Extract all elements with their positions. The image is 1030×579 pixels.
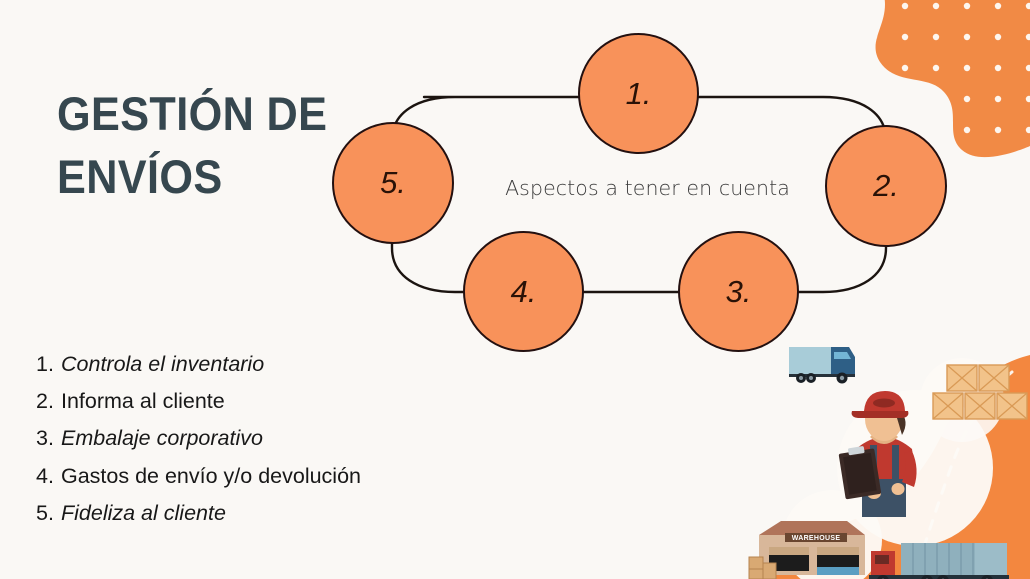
warehouse-building-icon: WAREHOUSE [749, 521, 865, 579]
slide-canvas: GESTIÓN DE ENVÍOS 1. 2. 3. 4. 5. Aspecto… [0, 0, 1030, 579]
diagram-node-1[interactable]: 1. [578, 33, 699, 154]
logistics-illustration: WAREHOUSE [745, 329, 1030, 579]
list-item-text: Controla el inventario [61, 352, 264, 377]
list-item: 1. Controla el inventario [36, 352, 466, 377]
list-item: 4. Gastos de envío y/o devolución [36, 464, 466, 489]
stacked-crates-icon [933, 365, 1027, 419]
list-item-text: Embalaje corporativo [61, 426, 263, 451]
diagram-node-3-label: 3. [726, 274, 752, 310]
list-item-index: 2. [36, 389, 61, 414]
list-item: 5. Fideliza al cliente [36, 501, 466, 526]
steps-list: 1. Controla el inventario 2. Informa al … [36, 352, 466, 538]
diagram-node-2-label: 2. [873, 168, 899, 204]
diagram-center-label: Aspectos a tener en cuenta [455, 176, 840, 200]
list-item-index: 4. [36, 464, 61, 489]
list-item-index: 5. [36, 501, 61, 526]
diagram-node-5-label: 5. [380, 165, 406, 201]
diagram-node-5[interactable]: 5. [332, 122, 454, 244]
list-item: 3. Embalaje corporativo [36, 426, 466, 451]
container-truck-icon [869, 543, 1009, 579]
list-item: 2. Informa al cliente [36, 389, 466, 414]
diagram-node-2[interactable]: 2. [825, 125, 947, 247]
warehouse-sign-label: WAREHOUSE [792, 535, 841, 542]
list-item-text: Gastos de envío y/o devolución [61, 464, 361, 489]
diagram-node-4[interactable]: 4. [463, 231, 584, 352]
list-item-index: 3. [36, 426, 61, 451]
warehouse-worker-icon [838, 391, 917, 517]
cycle-diagram: 1. 2. 3. 4. 5. Aspectos a tener en cuent… [0, 0, 1030, 360]
diagram-node-1-label: 1. [626, 76, 652, 112]
diagram-node-4-label: 4. [511, 274, 537, 310]
list-item-index: 1. [36, 352, 61, 377]
list-item-text: Fideliza al cliente [61, 501, 226, 526]
list-item-text: Informa al cliente [61, 389, 225, 414]
delivery-truck-icon [789, 347, 855, 384]
